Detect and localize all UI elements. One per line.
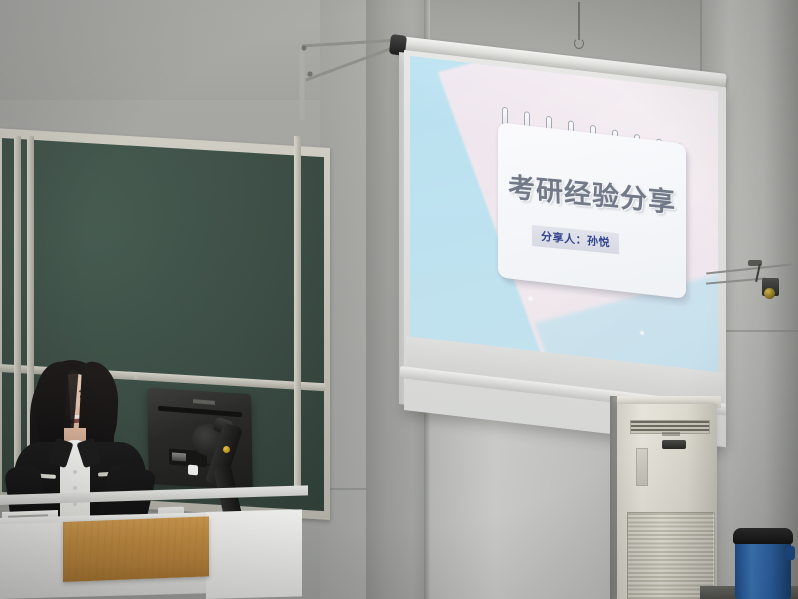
slide-subtitle: 分享人：孙悦 bbox=[532, 225, 619, 254]
slide-highlight-dot bbox=[528, 296, 533, 302]
slide-title: 考研经验分享 bbox=[498, 164, 687, 220]
projected-slide: 考研经验分享 分享人：孙悦 bbox=[410, 56, 718, 382]
monitor-plug bbox=[188, 465, 198, 476]
ac-brand-logo bbox=[662, 432, 680, 436]
note-card: 考研经验分享 分享人：孙悦 bbox=[498, 122, 686, 299]
trash-bin bbox=[735, 535, 791, 599]
projection-screen: 考研经验分享 分享人：孙悦 bbox=[404, 36, 730, 408]
podium-wood-panel bbox=[63, 516, 209, 582]
button bbox=[73, 470, 77, 474]
button bbox=[73, 486, 77, 490]
ac-button-strip[interactable] bbox=[636, 448, 648, 486]
trash-bin-handle bbox=[786, 546, 795, 560]
podium-right-panel bbox=[206, 509, 302, 599]
camera-lens-icon bbox=[764, 288, 775, 299]
classroom-photo: 考研经验分享 分享人：孙悦 bbox=[0, 0, 798, 599]
ac-display-panel[interactable] bbox=[662, 440, 686, 449]
trash-bag bbox=[733, 528, 793, 544]
slide-highlight-dot bbox=[640, 331, 644, 335]
blackboard-divider bbox=[294, 136, 301, 492]
monitor-port-label bbox=[172, 452, 186, 461]
monitor-arm-accent bbox=[223, 446, 230, 453]
hanging-cord bbox=[578, 2, 580, 40]
